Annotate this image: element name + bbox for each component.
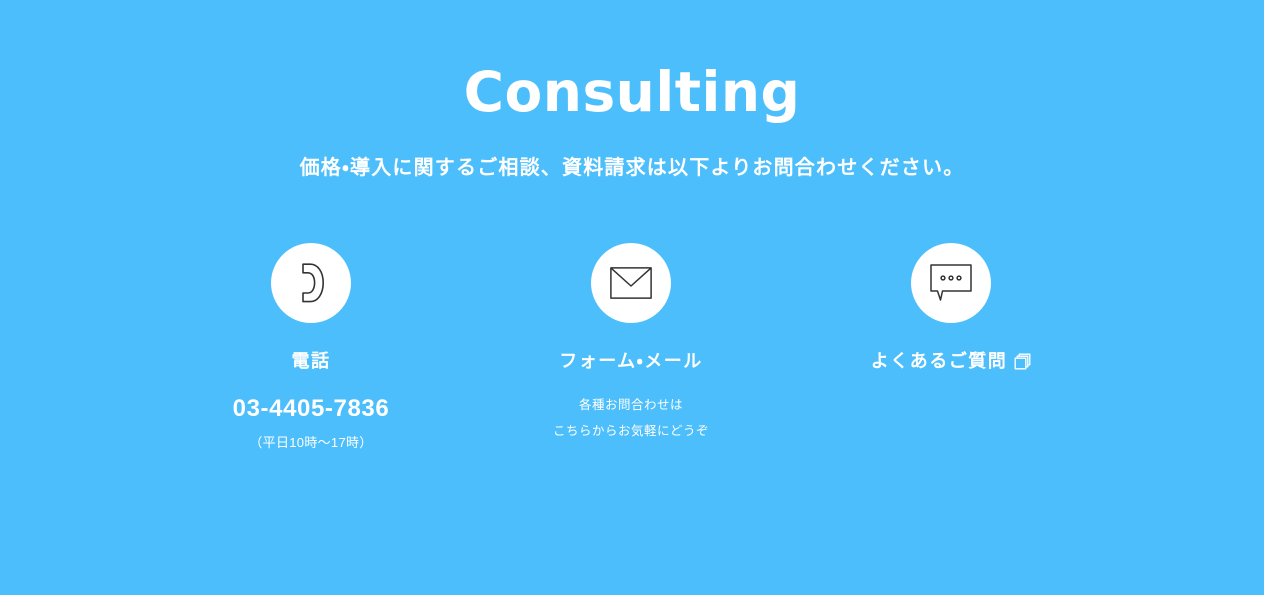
envelope-icon — [610, 267, 652, 299]
phone-handset-icon — [293, 261, 329, 305]
phone-number[interactable]: 03-4405-7836 — [151, 373, 471, 424]
consulting-section: Consulting 価格・導入に関するご相談、資料請求は以下よりお問合わせくだ… — [0, 0, 1264, 595]
mail-icon-circle[interactable] — [591, 243, 671, 323]
contact-card-form-mail-title: フォーム・メール — [471, 323, 791, 373]
contact-card-faq-title-text: よくあるご質問 — [871, 350, 1008, 373]
mail-description-line-1: 各種お問合わせは — [471, 399, 791, 413]
contact-card-phone-title-text: 電話 — [292, 350, 331, 373]
phone-icon-circle[interactable] — [271, 243, 351, 323]
contact-card-phone-title: 電話 — [151, 323, 471, 373]
new-window-icon[interactable] — [1014, 353, 1031, 370]
mail-description-line-2: こちらからお気軽にどうぞ — [471, 413, 791, 439]
mail-description: 各種お問合わせは こちらからお気軽にどうぞ — [471, 373, 791, 439]
contact-card-form-mail-title-text: フォーム・メール — [559, 350, 703, 373]
contact-card-faq[interactable]: よくあるご質問 — [791, 243, 1111, 373]
page-subtitle: 価格・導入に関するご相談、資料請求は以下よりお問合わせください。 — [0, 123, 1264, 182]
contact-card-form-mail[interactable]: フォーム・メール 各種お問合わせは こちらからお気軽にどうぞ — [471, 243, 791, 439]
faq-icon-circle[interactable] — [911, 243, 991, 323]
heading-block: Consulting 価格・導入に関するご相談、資料請求は以下よりお問合わせくだ… — [0, 0, 1264, 182]
phone-hours: （平日10時〜17時） — [151, 424, 471, 452]
contact-methods-list: 電話 03-4405-7836 （平日10時〜17時） フォーム・メール 各種お… — [0, 182, 1264, 452]
speech-bubble-dots-icon — [930, 264, 972, 302]
contact-card-phone[interactable]: 電話 03-4405-7836 （平日10時〜17時） — [151, 243, 471, 452]
contact-card-faq-title[interactable]: よくあるご質問 — [791, 323, 1111, 373]
page-title: Consulting — [0, 62, 1264, 123]
